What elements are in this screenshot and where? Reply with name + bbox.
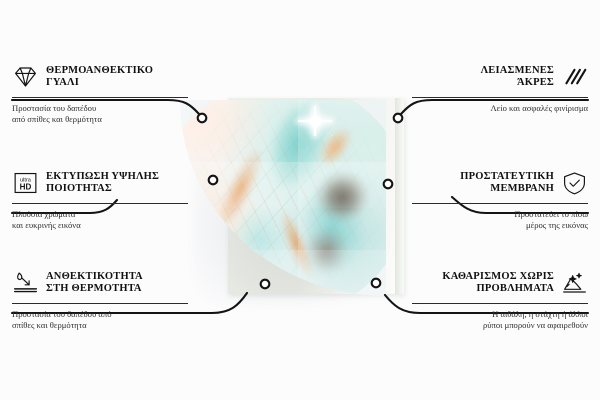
feature-high-quality-print: ultra HD ΕΚΤΥΠΩΣΗ ΥΨΗΛΗΣ ΠΟΙΟΤΗΤΑΣ Πλούσ… [12, 168, 188, 230]
feature-title: ΕΚΤΥΠΩΣΗ ΥΨΗΛΗΣ [46, 171, 159, 183]
feature-body-2: σπίθες και θερμότητα [12, 320, 188, 331]
feature-smooth-edges: ΛΕΙΑΣΜΕΝΕΣ ΆΚΡΕΣ Λείο και ασφαλές φινίρι… [412, 62, 588, 114]
feature-title-2: ΜΕΜΒΡΑΝΗ [460, 183, 554, 195]
feature-protective-membrane: ΠΡΟΣΤΑΤΕΥΤΙΚΗ ΜΕΜΒΡΑΝΗ Προστατεύει το πί… [412, 168, 588, 230]
divider [412, 97, 588, 98]
divider [412, 303, 588, 304]
feature-title: ΛΕΙΑΣΜΕΝΕΣ [481, 65, 554, 77]
diamond-icon [12, 64, 39, 90]
feature-title: ΑΝΘΕΚΤΙΚΟΤΗΤΑ [46, 271, 143, 283]
feature-body: Λείο και ασφαλές φινίρισμα [412, 103, 588, 114]
ultra-hd-icon: ultra HD [12, 170, 39, 196]
feature-title-2: ΆΚΡΕΣ [481, 77, 554, 89]
feature-title-2: ΣΤΗ ΘΕΡΜΟΤΗΤΑ [46, 283, 143, 295]
feature-body: Προστασία του δαπέδου [12, 103, 188, 114]
divider [412, 203, 588, 204]
feature-title: ΚΑΘΑΡΙΣΜΟΣ ΧΩΡΙΣ [442, 271, 554, 283]
shield-check-icon [561, 170, 588, 196]
feature-body: Η αιθάλη, η στάχτη ή άλλοι [412, 309, 588, 320]
smooth-edges-icon [561, 64, 588, 90]
feature-body-2: μέρος της εικόνας [412, 220, 588, 231]
feature-body: Πλούσια χρώματα [12, 209, 188, 220]
divider [12, 97, 188, 98]
feature-title: ΘΕΡΜΟΑΝΘΕΚΤΙΚΟ [46, 65, 153, 77]
callout-dot [372, 279, 381, 288]
divider [12, 203, 188, 204]
callout-dot [209, 176, 218, 185]
feature-easy-cleaning: ΚΑΘΑΡΙΣΜΟΣ ΧΩΡΙΣ ΠΡΟΒΛΗΜΑΤΑ Η αιθάλη, η … [412, 268, 588, 330]
feature-body-2: και ευκρινής εικόνα [12, 220, 188, 231]
feature-body: Προστασία του δαπέδου από [12, 309, 188, 320]
callout-dot [384, 180, 393, 189]
feature-title-2: ΓΥΑΛΙ [46, 77, 153, 89]
infographic-stage: ΘΕΡΜΟΑΝΘΕΚΤΙΚΟ ΓΥΑΛΙ Προστασία του δαπέδ… [0, 0, 600, 400]
feature-title: ΠΡΟΣΤΑΤΕΥΤΙΚΗ [460, 171, 554, 183]
flame-deflect-icon [12, 270, 39, 296]
feature-title-2: ΠΟΙΟΤΗΤΑΣ [46, 183, 159, 195]
divider [12, 303, 188, 304]
svg-text:HD: HD [20, 182, 32, 191]
easy-clean-icon [561, 270, 588, 296]
feature-heat-resistant-glass: ΘΕΡΜΟΑΝΘΕΚΤΙΚΟ ΓΥΑΛΙ Προστασία του δαπέδ… [12, 62, 188, 124]
callout-dot [261, 280, 270, 289]
feature-body: Προστατεύει το πίσω [412, 209, 588, 220]
feature-heat-durability: ΑΝΘΕΚΤΙΚΟΤΗΤΑ ΣΤΗ ΘΕΡΜΟΤΗΤΑ Προστασία το… [12, 268, 188, 330]
callout-dot [198, 114, 207, 123]
callout-dot [394, 114, 403, 123]
feature-body-2: από σπίθες και θερμότητα [12, 114, 188, 125]
feature-body-2: ρύποι μπορούν να αφαιρεθούν [412, 320, 588, 331]
feature-title-2: ΠΡΟΒΛΗΜΑΤΑ [442, 283, 554, 295]
